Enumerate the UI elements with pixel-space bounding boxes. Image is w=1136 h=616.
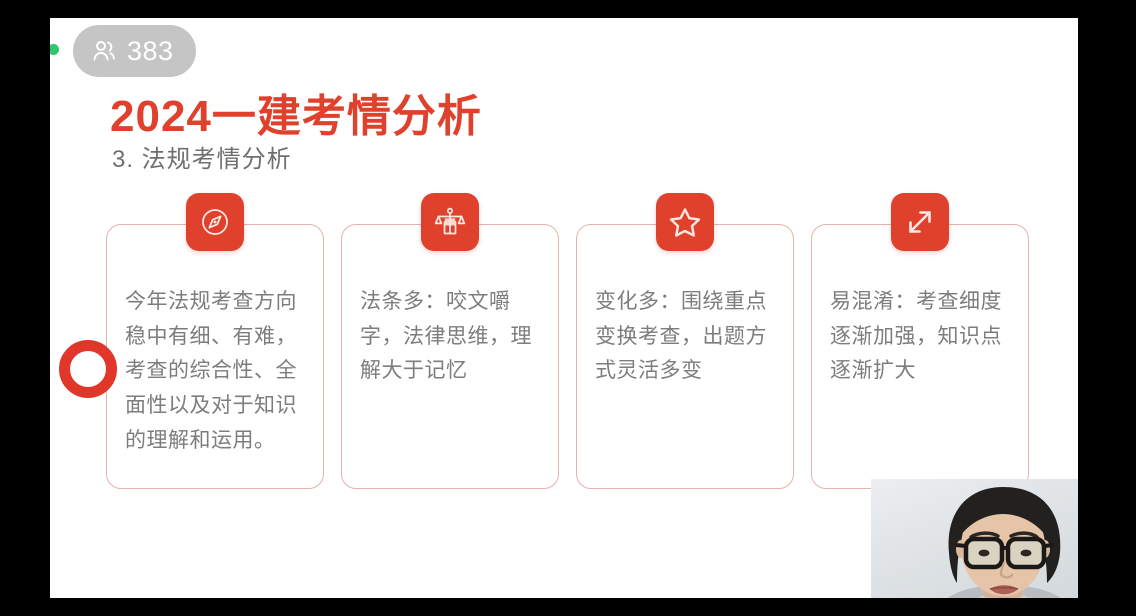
card-row: 今年法规考查方向稳中有细、有难，考查的综合性、全面性以及对于知识的理解和运用。	[106, 224, 1046, 489]
letterbox-top	[0, 0, 1136, 18]
info-card-text: 易混淆：考查细度逐渐加强，知识点逐渐扩大	[830, 285, 1014, 389]
info-card-text: 变化多：围绕重点变换考查，出题方式灵活多变	[595, 285, 779, 389]
expand-arrow-icon	[891, 193, 949, 251]
letterbox-left	[0, 0, 50, 616]
viewer-count-value: 383	[127, 38, 174, 65]
red-ring-decoration	[59, 340, 117, 398]
slide-subtitle: 3. 法规考情分析	[112, 139, 292, 174]
scales-of-justice-icon	[421, 193, 479, 251]
letterbox-bottom	[0, 598, 1136, 616]
stream-player: 2024一建考情分析 3. 法规考情分析 今年法规考查方向稳中有细、有难，考查的…	[0, 0, 1136, 616]
info-card: 易混淆：考查细度逐渐加强，知识点逐渐扩大	[811, 224, 1029, 489]
info-card: 变化多：围绕重点变换考查，出题方式灵活多变	[576, 224, 794, 489]
info-card-text: 今年法规考查方向稳中有细、有难，考查的综合性、全面性以及对于知识的理解和运用。	[125, 285, 309, 458]
viewer-count-badge[interactable]: 383	[73, 25, 196, 77]
info-card-text: 法条多：咬文嚼字，法律思维，理解大于记忆	[360, 285, 544, 389]
info-card: 法条多：咬文嚼字，法律思维，理解大于记忆	[341, 224, 559, 489]
slide-title: 2024一建考情分析	[110, 80, 482, 144]
star-icon	[656, 193, 714, 251]
people-icon	[91, 38, 117, 64]
compass-icon	[186, 193, 244, 251]
letterbox-right	[1078, 0, 1136, 616]
info-card: 今年法规考查方向稳中有细、有难，考查的综合性、全面性以及对于知识的理解和运用。	[106, 224, 324, 489]
